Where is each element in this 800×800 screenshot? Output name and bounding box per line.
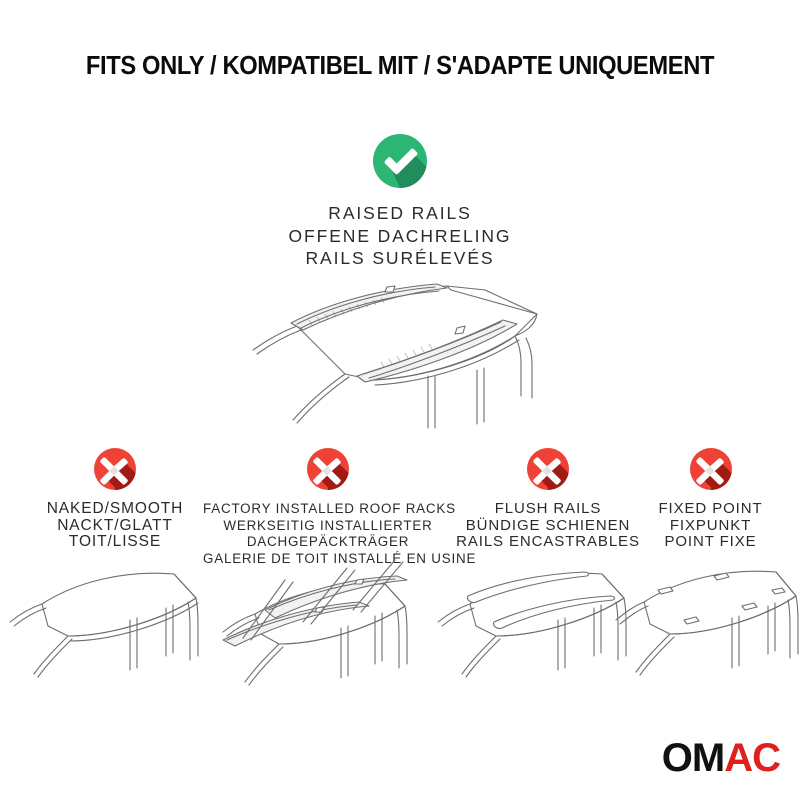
omac-logo: OMAC — [662, 736, 780, 780]
label-line-1: FIXED POINT — [632, 501, 789, 518]
x-circle-icon — [306, 447, 350, 491]
check-circle-icon — [372, 133, 428, 189]
logo-text-red: AC — [724, 736, 780, 780]
label-line-1: NAKED/SMOOTH — [15, 501, 215, 518]
label-line-3: POINT FIXE — [632, 534, 789, 551]
label-line-1: FACTORY INSTALLED ROOF RACKS — [203, 501, 453, 518]
car-roof-raised-rails-illustration — [185, 278, 625, 453]
label-line-2: NACKT/GLATT — [15, 518, 215, 535]
compatible-label-en: RAISED RAILS — [0, 202, 800, 225]
logo-text-dark: OM — [662, 736, 724, 780]
label-line-3: TOIT/LISSE — [15, 534, 215, 551]
incompatible-column-factory-racks: FACTORY INSTALLED ROOF RACKS WERKSEITIG … — [203, 447, 453, 567]
bottom-illustrations — [0, 552, 800, 712]
incompatible-labels-naked-smooth: NAKED/SMOOTH NACKT/GLATT TOIT/LISSE — [15, 501, 215, 551]
x-circle-icon — [689, 447, 733, 491]
label-line-2: FIXPUNKT — [632, 518, 789, 535]
page-title: FITS ONLY / KOMPATIBEL MIT / S'ADAPTE UN… — [28, 52, 772, 81]
incompatible-section: NAKED/SMOOTH NACKT/GLATT TOIT/LISSE FACT… — [0, 447, 800, 567]
incompatible-column-flush-rails: FLUSH RAILS BÜNDIGE SCHIENEN RAILS ENCAS… — [448, 447, 648, 551]
label-line-3: RAILS ENCASTRABLES — [448, 534, 648, 551]
label-line-3: DACHGEPÄCKTRÄGER — [203, 534, 453, 551]
x-circle-icon — [93, 447, 137, 491]
compatible-label-fr: RAILS SURÉLEVÉS — [0, 247, 800, 270]
incompatible-labels-flush-rails: FLUSH RAILS BÜNDIGE SCHIENEN RAILS ENCAS… — [448, 501, 648, 551]
car-roof-naked-smooth-illustration — [6, 552, 202, 697]
label-line-2: WERKSEITIG INSTALLIERTER — [203, 518, 453, 535]
compatible-section: RAISED RAILS OFFENE DACHRELING RAILS SUR… — [0, 133, 800, 270]
compatible-labels: RAISED RAILS OFFENE DACHRELING RAILS SUR… — [0, 202, 800, 270]
compatible-label-de: OFFENE DACHRELING — [0, 225, 800, 248]
incompatible-column-naked-smooth: NAKED/SMOOTH NACKT/GLATT TOIT/LISSE — [15, 447, 215, 551]
incompatible-column-fixed-point: FIXED POINT FIXPUNKT POINT FIXE — [632, 447, 789, 551]
fitment-infographic: FITS ONLY / KOMPATIBEL MIT / S'ADAPTE UN… — [0, 0, 800, 800]
car-roof-fixed-point-illustration — [614, 552, 800, 697]
label-line-2: BÜNDIGE SCHIENEN — [448, 518, 648, 535]
incompatible-labels-fixed-point: FIXED POINT FIXPUNKT POINT FIXE — [632, 501, 789, 551]
car-roof-flush-rails-illustration — [434, 552, 630, 697]
x-circle-icon — [526, 447, 570, 491]
car-roof-factory-racks-illustration — [203, 552, 431, 704]
label-line-1: FLUSH RAILS — [448, 501, 648, 518]
